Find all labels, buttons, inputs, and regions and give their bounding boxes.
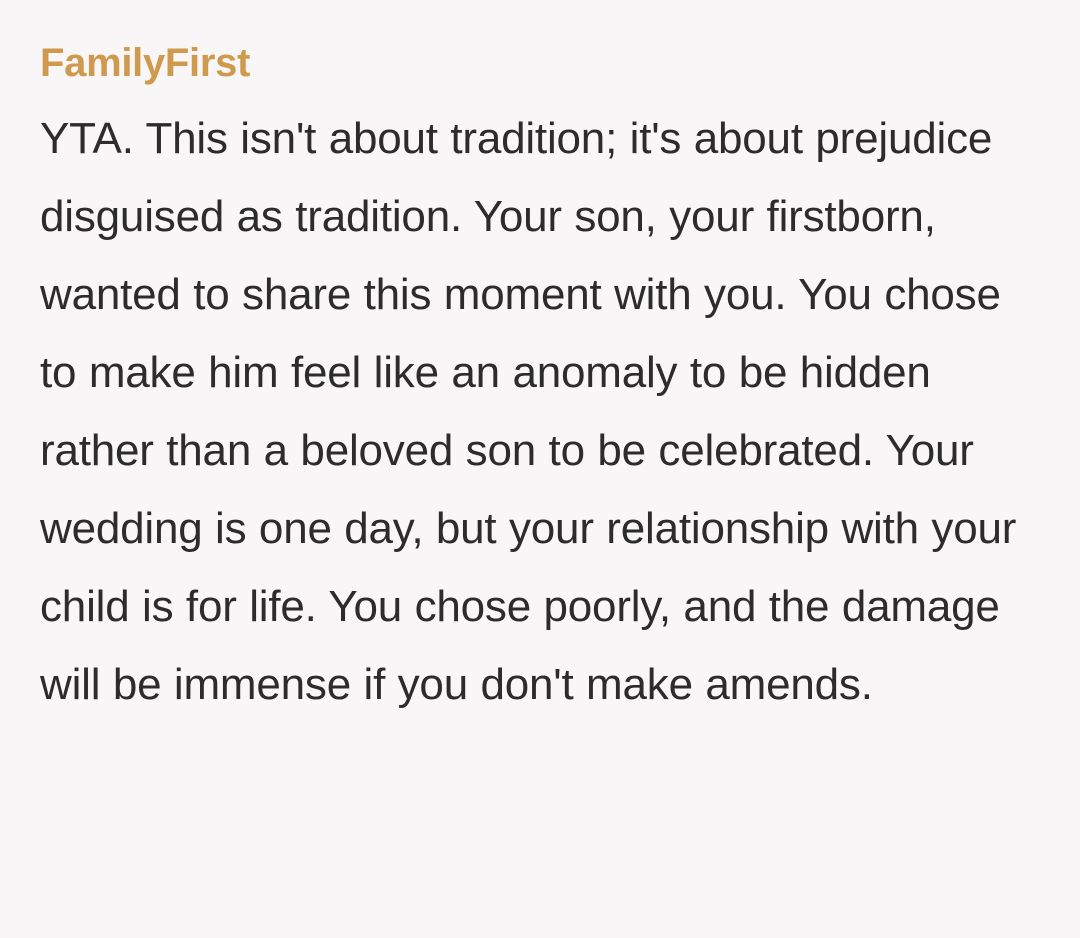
comment-body-text: YTA. This isn't about tradition; it's ab…	[40, 100, 1036, 724]
comment-card: FamilyFirst YTA. This isn't about tradit…	[0, 0, 1080, 938]
comment-author-name[interactable]: FamilyFirst	[40, 40, 1036, 86]
